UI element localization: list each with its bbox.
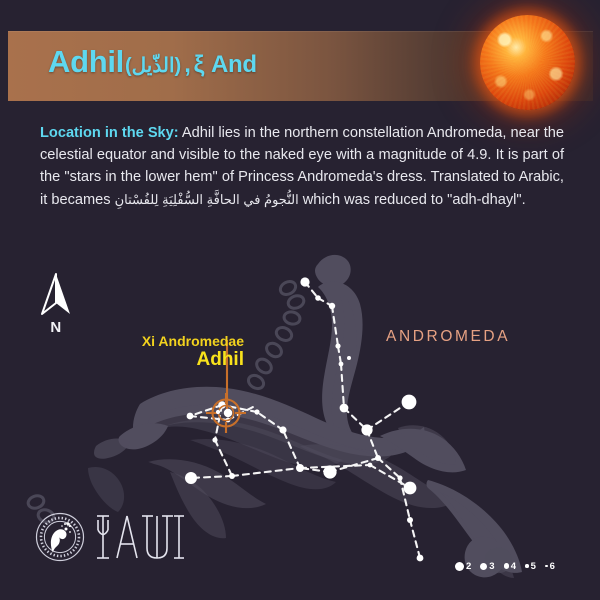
title-arabic-name: (الذّيل)	[125, 53, 181, 78]
title-bayer-designation: ξ	[194, 51, 204, 79]
legend-dot	[480, 563, 487, 570]
legend-dot	[455, 562, 464, 571]
legend-dot	[545, 565, 548, 568]
legend-item: 3	[480, 561, 494, 572]
legend-item: 4	[504, 561, 516, 572]
legend-item: 5	[525, 561, 536, 572]
legend-label: 5	[531, 561, 536, 572]
legend-item: 2	[455, 561, 471, 572]
north-arrow-icon	[33, 272, 79, 318]
magnitude-legend: 2 3 4 5 6	[455, 556, 555, 576]
compass-label-north: N	[33, 319, 79, 336]
title-star-name: Adhil	[48, 44, 124, 80]
callout-designation: Xi Andromedae	[108, 333, 244, 349]
page-title: Adhil(الذّيل),ξAnd	[48, 44, 257, 80]
compass-rose: N	[33, 272, 79, 344]
legend-label: 4	[511, 561, 516, 572]
iau-seal-icon	[35, 512, 85, 562]
legend-dot	[525, 564, 529, 568]
legend-label: 6	[550, 561, 555, 572]
callout-star-name: Adhil	[108, 349, 244, 372]
description-lead-label: Location in the Sky:	[40, 125, 179, 141]
description-part-two: which was reduced to "adh-dhayl".	[299, 192, 526, 208]
infographic-page: Adhil(الذّيل),ξAnd Location in the Sky: …	[0, 0, 600, 600]
adhil-star-companion	[216, 410, 220, 414]
title-separator: ,	[184, 51, 190, 79]
legend-label: 2	[466, 561, 471, 572]
iau-logo	[35, 508, 185, 566]
legend-item: 6	[545, 561, 555, 572]
description-arabic-phrase: النُّجومُ في الحافَّةِ السُّفْلِيَةِ لِل…	[115, 192, 299, 207]
legend-dot	[504, 563, 509, 568]
star-callout-label: Xi Andromedae Adhil	[108, 333, 244, 372]
sun-image	[465, 3, 590, 121]
title-constellation-abbr: And	[211, 51, 257, 79]
constellation-name-label: ANDROMEDA	[386, 328, 510, 346]
description-text: Location in the Sky: Adhil lies in the n…	[40, 122, 564, 211]
sun-surface-texture	[480, 15, 575, 110]
iau-wordmark	[93, 510, 185, 564]
adhil-star-point	[224, 409, 232, 417]
legend-label: 3	[489, 561, 494, 572]
